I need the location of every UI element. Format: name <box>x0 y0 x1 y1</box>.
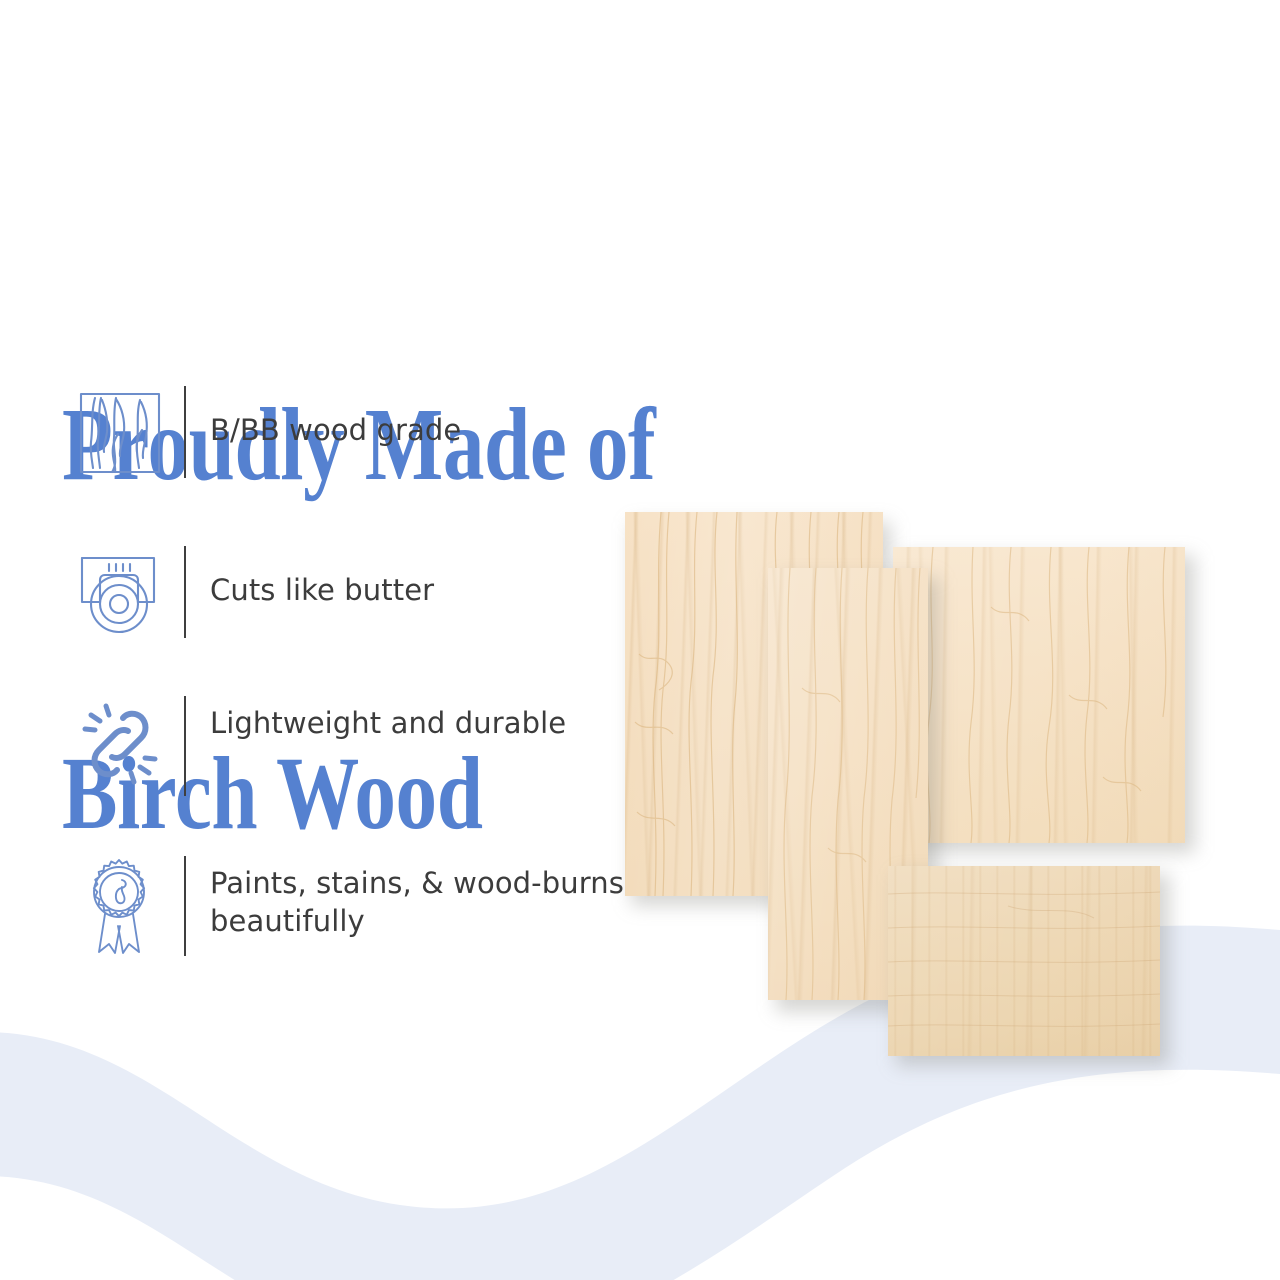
feature-divider <box>184 856 186 956</box>
feature-item-lightweight: Lightweight and durable <box>78 696 566 796</box>
feature-item-wood-grade: B/BB wood grade <box>78 386 461 478</box>
wood-grain-square-icon <box>78 386 170 478</box>
feature-label: Cuts like butter <box>210 546 434 609</box>
feature-divider <box>184 546 186 638</box>
feature-divider <box>184 696 186 796</box>
award-ribbon-icon <box>78 856 170 960</box>
feature-label: Lightweight and durable <box>210 696 566 742</box>
feature-label: Paints, stains, & wood-burns beautifully <box>210 856 640 941</box>
feature-item-finishing: Paints, stains, & wood-burns beautifully <box>78 856 640 960</box>
feature-item-cutting: Cuts like butter <box>78 546 434 638</box>
panel-face <box>888 866 1160 1056</box>
feature-divider <box>184 386 186 478</box>
feature-label: B/BB wood grade <box>210 386 461 449</box>
poster-canvas: Proudly Made of Birch Wood <box>0 0 1280 1280</box>
cutting-machine-icon <box>78 546 170 638</box>
chain-link-icon <box>78 696 170 792</box>
panel-front-bottom <box>888 866 1160 1056</box>
